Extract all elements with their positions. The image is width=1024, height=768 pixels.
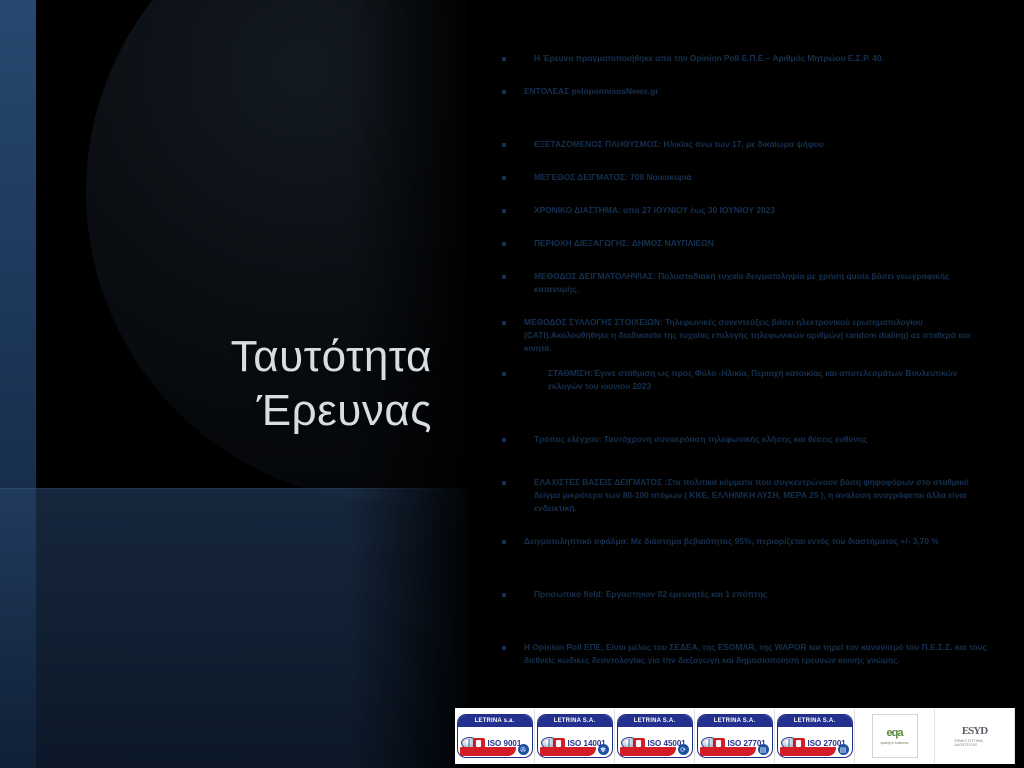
bullet-square-icon: [502, 90, 506, 94]
bullet-square-icon: [502, 646, 506, 650]
eqa-badge: eqa quality in business: [855, 708, 935, 764]
iso-company-label: LETRINA S.A.: [538, 715, 612, 727]
list-item: ΕΞΕΤΑΖΟΜΕΝΟΣ ΠΛΗΘΥΣΜΟΣ: Ηλικίας άνω των …: [490, 138, 990, 151]
list-item: ΜΕΘΟΔΟΣ ΣΥΛΛΟΓΗΣ ΣΤΟΙΧΕΙΩΝ: Τηλεφωνικές …: [490, 316, 990, 355]
methodology-bullet-list: Η Έρευνα πραγματοποιήθηκε από την Opinio…: [490, 52, 990, 667]
bullet-square-icon: [502, 275, 506, 279]
list-item-text: Η Opinion Poll ΕΠΕ, Είναι μέλος του ΣΕΔΕ…: [524, 642, 987, 665]
list-item-text: ΣΤΑΘΜΙΣΗ:Έγινε στάθμιση ως προς Φύλο -Ηλ…: [548, 368, 957, 391]
list-item: ΕΛΑΧΙΣΤΕΣ ΒΑΣΕΙΣ ΔΕΙΓΜΑΤΟΣ :Στα πολιτικά…: [490, 476, 990, 515]
list-item: ΧΡΟΝΙΚΟ ΔΙΑΣΤΗΜΑ: από 27 ΙΟΥΝΙΟΥ έως 30 …: [490, 204, 990, 217]
list-item-text: Προσωπικό field: Εργάστηκαν 82 ερευνητές…: [534, 589, 767, 599]
list-item: ΣΤΑΘΜΙΣΗ:Έγινε στάθμιση ως προς Φύλο -Ηλ…: [490, 367, 990, 393]
list-item: ΜΕΘΟΔΟΣ ΔΕΙΓΜΑΤΟΛΗΨΙΑΣ: Πολυσταδιακή τυχ…: [490, 270, 990, 296]
list-item: Δειγματοληπτικό σφάλμα: Με διάστημα βεβα…: [490, 535, 990, 548]
list-item-text: Δειγματοληπτικό σφάλμα: Με διάστημα βεβα…: [524, 536, 939, 546]
iso-badge: LETRINA S.A. ISO 27701 ▤: [695, 708, 775, 764]
certification-badge-strip: LETRINA s.a. ISO 9001 ✇ LETRINA S.A. ISO…: [455, 708, 1015, 764]
list-item: ΜΕΓΕΘΟΣ ΔΕΙΓΜΑΤΟΣ: 708 Νοικοκυριά: [490, 171, 990, 184]
bullet-square-icon: [502, 321, 506, 325]
iso-company-label: LETRINA S.A.: [778, 715, 852, 727]
slide-root: Ταυτότητα Έρευνας Η Έρευνα πραγματοποιήθ…: [0, 0, 1024, 768]
iso-company-label: LETRINA S.A.: [698, 715, 772, 727]
iso-badge: LETRINA S.A. ISO 45001 ⟳: [615, 708, 695, 764]
page-title: Ταυτότητα Έρευνας: [36, 330, 456, 437]
bullet-square-icon: [502, 372, 506, 376]
eqa-logo: eqa quality in business: [872, 714, 918, 758]
bullet-square-icon: [502, 57, 506, 61]
iso-company-label: LETRINA S.A.: [618, 715, 692, 727]
bullet-square-icon: [502, 176, 506, 180]
scheme-mark-icon: ▤: [838, 744, 849, 755]
iso-card: LETRINA S.A. ISO 27001 ▤: [777, 714, 853, 758]
ribbon-shape: [780, 747, 836, 756]
list-item-text: ΕΛΑΧΙΣΤΕΣ ΒΑΣΕΙΣ ΔΕΙΓΜΑΤΟΣ :Στα πολιτικά…: [534, 477, 969, 513]
bullet-square-icon: [502, 143, 506, 147]
list-item-text: ΧΡΟΝΙΚΟ ΔΙΑΣΤΗΜΑ: από 27 ΙΟΥΝΙΟΥ έως 30 …: [534, 205, 775, 215]
list-item: ΠΕΡΙΟΧΗ ΔΙΕΞΑΓΩΓΗΣ: ΔΗΜΟΣ ΝΑΥΠΛΙΕΩΝ: [490, 237, 990, 250]
iso-badge: LETRINA s.a. ISO 9001 ✇: [455, 708, 535, 764]
list-item-text: ΕΞΕΤΑΖΟΜΕΝΟΣ ΠΛΗΘΥΣΜΟΣ: Ηλικίας άνω των …: [534, 139, 824, 149]
scheme-mark-icon: ▤: [758, 744, 769, 755]
iso-badge: LETRINA S.A. ISO 27001 ▤: [775, 708, 855, 764]
list-item-text: ΜΕΓΕΘΟΣ ΔΕΙΓΜΑΤΟΣ: 708 Νοικοκυριά: [534, 172, 692, 182]
ribbon-shape: [620, 747, 676, 756]
list-item: Τρόπος ελέγχου: Ταυτόχρονη συνακρόαση τη…: [490, 433, 990, 446]
list-item: Προσωπικό field: Εργάστηκαν 82 ερευνητές…: [490, 588, 990, 601]
eqa-tagline: quality in business: [881, 741, 909, 745]
iso-card: LETRINA S.A. ISO 27701 ▤: [697, 714, 773, 758]
iso-badge: LETRINA S.A. ISO 14001 ✾: [535, 708, 615, 764]
scheme-mark-icon: ⟳: [678, 744, 689, 755]
list-item-text: ΠΕΡΙΟΧΗ ΔΙΕΞΑΓΩΓΗΣ: ΔΗΜΟΣ ΝΑΥΠΛΙΕΩΝ: [534, 238, 714, 248]
content-column: Η Έρευνα πραγματοποιήθηκε από την Opinio…: [468, 0, 1024, 768]
list-item-text: ΕΝΤΟΛΕΑΣ peloponnisosNews.gr: [524, 86, 658, 96]
list-item: Η Έρευνα πραγματοποιήθηκε από την Opinio…: [490, 52, 990, 65]
scheme-mark-icon: ✾: [598, 744, 609, 755]
iso-company-label: LETRINA s.a.: [458, 715, 532, 727]
list-item-text: Τρόπος ελέγχου: Ταυτόχρονη συνακρόαση τη…: [534, 434, 867, 444]
eqa-label: eqa: [887, 727, 903, 739]
page-title-line-1: Ταυτότητα: [231, 332, 432, 381]
esyd-label: ESYD: [962, 725, 987, 737]
bullet-square-icon: [502, 209, 506, 213]
esyd-logo: ESYD ΕΘΝΙΚΟ ΣΥΣΤΗΜΑ ΔΙΑΠΙΣΤΕΥΣΗΣ: [955, 714, 995, 758]
list-item-text: Η Έρευνα πραγματοποιήθηκε από την Opinio…: [534, 53, 884, 63]
iso-card: LETRINA s.a. ISO 9001 ✇: [457, 714, 533, 758]
esyd-badge: ESYD ΕΘΝΙΚΟ ΣΥΣΤΗΜΑ ΔΙΑΠΙΣΤΕΥΣΗΣ: [935, 708, 1015, 764]
iso-card: LETRINA S.A. ISO 14001 ✾: [537, 714, 613, 758]
ribbon-shape: [460, 747, 516, 756]
bullet-square-icon: [502, 540, 506, 544]
iso-card: LETRINA S.A. ISO 45001 ⟳: [617, 714, 693, 758]
esyd-tagline: ΕΘΝΙΚΟ ΣΥΣΤΗΜΑ ΔΙΑΠΙΣΤΕΥΣΗΣ: [955, 739, 995, 747]
page-title-line-2: Έρευνας: [36, 384, 432, 438]
scheme-mark-icon: ✇: [518, 744, 529, 755]
bullet-square-icon: [502, 242, 506, 246]
ribbon-shape: [700, 747, 756, 756]
list-item-text: ΜΕΘΟΔΟΣ ΣΥΛΛΟΓΗΣ ΣΤΟΙΧΕΙΩΝ: Τηλεφωνικές …: [524, 317, 970, 353]
bullet-square-icon: [502, 438, 506, 442]
bullet-square-icon: [502, 481, 506, 485]
list-item: ΕΝΤΟΛΕΑΣ peloponnisosNews.gr: [490, 85, 990, 98]
list-item: Η Opinion Poll ΕΠΕ, Είναι μέλος του ΣΕΔΕ…: [490, 641, 990, 667]
ribbon-shape: [540, 747, 596, 756]
bullet-square-icon: [502, 593, 506, 597]
list-item-text: ΜΕΘΟΔΟΣ ΔΕΙΓΜΑΤΟΛΗΨΙΑΣ: Πολυσταδιακή τυχ…: [534, 271, 949, 294]
